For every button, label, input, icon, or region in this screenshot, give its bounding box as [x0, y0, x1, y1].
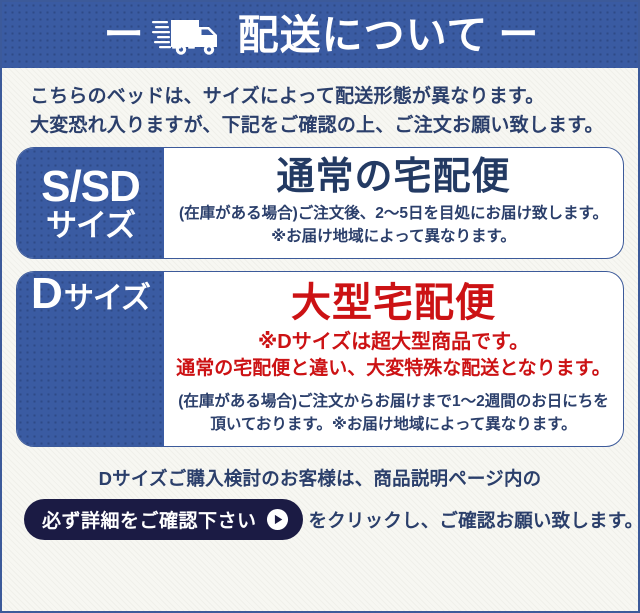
- size-label-d-sub: サイズ: [64, 284, 150, 315]
- shipping-option-d: D サイズ 大型宅配便 ※Dサイズは超大型商品です。 通常の宅配便と違い、大変特…: [16, 271, 624, 447]
- content-spacer: [176, 383, 611, 390]
- shipping-detail-d-1: (在庫がある場合)ご注文からお届けまで1〜2週間のお日にちを: [176, 390, 611, 413]
- footer-cta-row: 必ず詳細をご確認下さい をクリックし、ご確認お願い致します。: [14, 499, 626, 540]
- shipping-detail-ssd-1: (在庫がある場合)ご注文後、2〜5日を目処にお届け致します。: [176, 202, 611, 225]
- shipping-option-ssd: S/SD サイズ 通常の宅配便 (在庫がある場合)ご注文後、2〜5日を目処にお届…: [16, 147, 624, 259]
- footer-instruction-tail: をクリックし、ご確認お願い致します。: [309, 507, 640, 533]
- shipping-warning-d-2: 通常の宅配便と違い、大変特殊な配送となります。: [176, 356, 611, 383]
- confirm-details-button-label: 必ず詳細をご確認下さい: [42, 506, 257, 533]
- size-label-d-main: D: [31, 272, 62, 317]
- size-label-d: D サイズ: [17, 272, 164, 446]
- header-dash-left: ー: [104, 15, 142, 55]
- confirm-details-button[interactable]: 必ず詳細をご確認下さい: [24, 499, 303, 540]
- page-title: 配送について: [238, 15, 489, 56]
- banner-footer: Dサイズご購入検討のお客様は、商品説明ページ内の 必ず詳細をご確認下さい をクリ…: [2, 459, 638, 540]
- shipping-warning-d-1: ※Dサイズは超大型商品です。: [176, 328, 611, 356]
- banner-header: ー: [2, 2, 638, 68]
- shipping-option-d-content: 大型宅配便 ※Dサイズは超大型商品です。 通常の宅配便と違い、大変特殊な配送とな…: [164, 272, 623, 446]
- shipping-detail-ssd-2: ※お届け地域によって異なります。: [176, 225, 611, 248]
- intro-text: こちらのベッドは、サイズによって配送形態が異なります。 大変恐れ入りますが、下記…: [2, 68, 638, 147]
- size-label-ssd: S/SD サイズ: [17, 148, 164, 258]
- play-circle-icon: [266, 508, 289, 531]
- shipping-detail-d-2: 頂いております。※お届け地域によって異なります。: [176, 413, 611, 436]
- shipping-option-ssd-content: 通常の宅配便 (在庫がある場合)ご注文後、2〜5日を目処にお届け致します。 ※お…: [164, 148, 623, 258]
- size-label-ssd-main: S/SD: [41, 165, 140, 210]
- footer-instruction: Dサイズご購入検討のお客様は、商品説明ページ内の: [14, 465, 626, 491]
- delivery-truck-icon: [152, 14, 226, 56]
- intro-line-1: こちらのベッドは、サイズによって配送形態が異なります。: [30, 82, 638, 111]
- shipping-info-banner: ー: [0, 0, 640, 613]
- intro-line-2: 大変恐れ入りますが、下記をご確認の上、ご注文お願い致します。: [30, 111, 638, 140]
- shipping-method-title-ssd: 通常の宅配便: [176, 156, 611, 200]
- header-dash-right: ー: [498, 15, 536, 55]
- shipping-method-title-d: 大型宅配便: [176, 280, 611, 326]
- size-label-ssd-sub: サイズ: [46, 210, 135, 242]
